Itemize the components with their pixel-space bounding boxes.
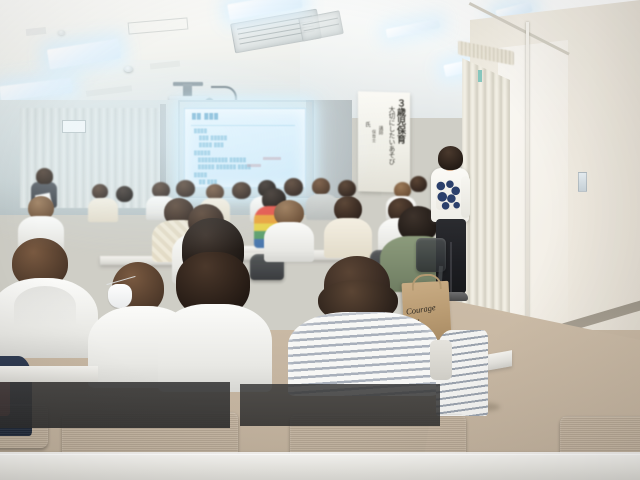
attendee-head — [92, 184, 108, 199]
attendee-head — [312, 178, 330, 195]
smoke-detector-icon — [124, 66, 133, 72]
banner-presenter-name: 氏 — [363, 121, 369, 127]
wall-sign — [62, 120, 86, 133]
calligraphy-banner: ３歳児保育 大切にしたいあそび 氏 講師 保育士 — [358, 91, 410, 192]
slide-heading: ██ ███ — [192, 114, 219, 120]
attendee-collar-fold — [14, 286, 76, 326]
presenter-arm — [461, 176, 470, 218]
partition-green-tag — [478, 70, 482, 82]
attendee-torso — [158, 304, 272, 392]
smoke-detector-icon — [58, 30, 65, 35]
banner-sub-text: 大切にしたいあそび — [386, 106, 393, 165]
face-mask — [108, 284, 132, 308]
slide-line: █████ ██████ ████ — [198, 164, 251, 169]
slide-line: ███ █████ — [199, 135, 227, 140]
presenter-floral-pattern — [436, 180, 460, 210]
slide-line: ████ — [194, 172, 207, 177]
attendee-torso — [264, 222, 314, 262]
bag-script-text: Courage — [405, 302, 436, 317]
attendee-head — [284, 178, 303, 196]
attendee-torso — [324, 218, 372, 258]
partition-track-rail — [526, 22, 529, 342]
table-front-row — [0, 454, 640, 480]
slide-line: ████ — [194, 128, 207, 133]
attendee-sleeve — [430, 340, 452, 380]
attendee-torso — [88, 198, 118, 222]
table-edge-highlight — [0, 452, 640, 455]
attendee-head — [232, 182, 251, 199]
presenter-trouser-crease — [450, 242, 452, 292]
banner-small-text-1: 講師 — [378, 126, 383, 135]
table-under-shadow — [0, 382, 230, 428]
table-second-row — [0, 366, 98, 382]
staff-hair — [36, 168, 53, 184]
wall-switch-plate[interactable] — [578, 172, 587, 192]
attendee-head — [116, 186, 133, 202]
slide-line: █████ — [194, 150, 211, 155]
banner-small-text-2: 保育士 — [372, 130, 376, 143]
banner-main-text: ３歳児保育 — [396, 98, 405, 143]
slide-line: ████ ███ — [199, 142, 224, 147]
attendee-head — [338, 180, 356, 197]
slide-line: █████████ █████ — [198, 157, 246, 162]
presenter-hair — [438, 146, 463, 170]
seminar-room-photo: ██ ███ ████ ███ █████ ████ ███ █████ ███… — [0, 0, 640, 480]
table-under-shadow — [240, 384, 440, 426]
attendee-head — [176, 180, 195, 197]
projection-screen: ██ ███ ████ ███ █████ ████ ███ █████ ███… — [184, 108, 306, 188]
